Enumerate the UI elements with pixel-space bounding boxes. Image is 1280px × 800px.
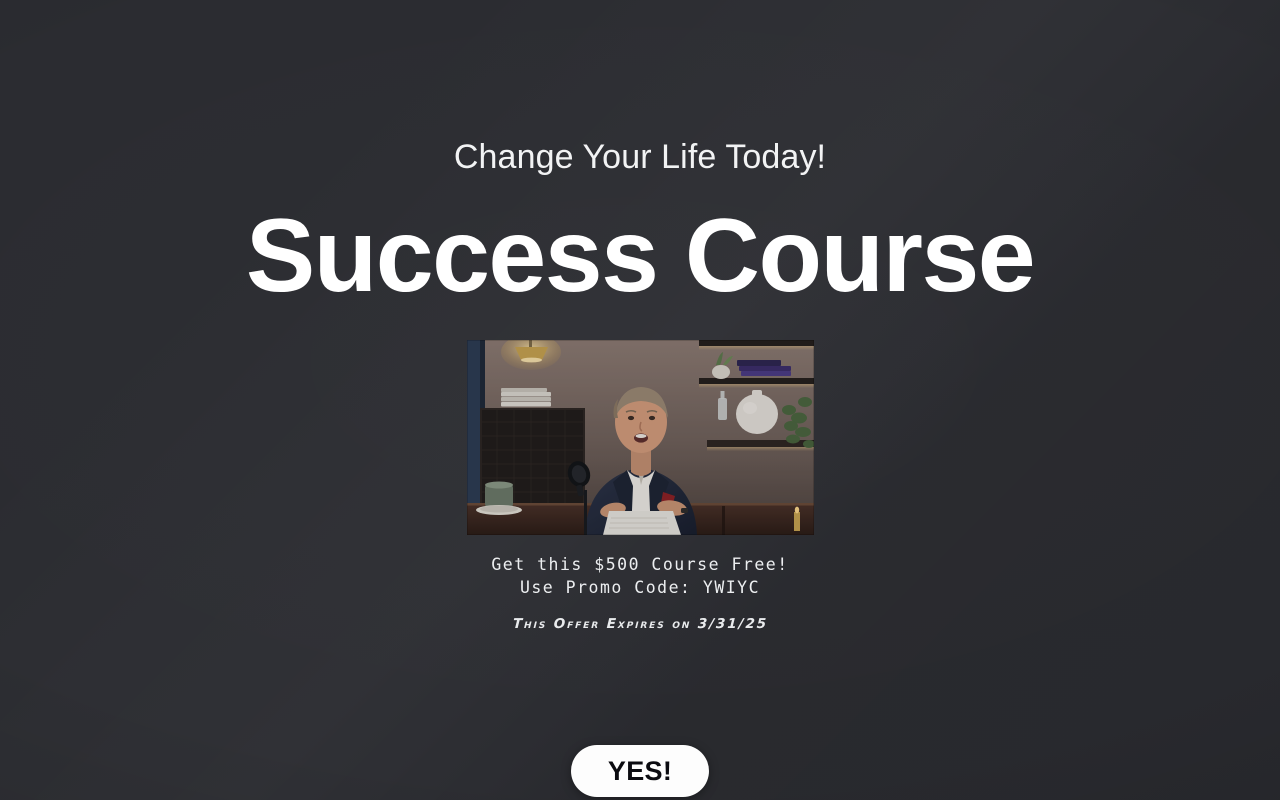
page-title: Success Course (246, 206, 1034, 308)
eyebrow-headline: Change Your Life Today! (454, 139, 826, 176)
video-thumbnail[interactable] (467, 340, 814, 535)
promo-landing-page: Change Your Life Today! Success Course (0, 0, 1280, 800)
promo-content-stack: Change Your Life Today! Success Course (0, 0, 1280, 800)
offer-line-promo-code: Use Promo Code: YWIYC (491, 576, 788, 599)
video-still-illustration (467, 340, 814, 535)
offer-expiry-note: This Offer Expires on 3/31/25 (512, 616, 768, 632)
offer-line-price: Get this $500 Course Free! (491, 553, 788, 576)
offer-copy: Get this $500 Course Free! Use Promo Cod… (491, 553, 788, 599)
